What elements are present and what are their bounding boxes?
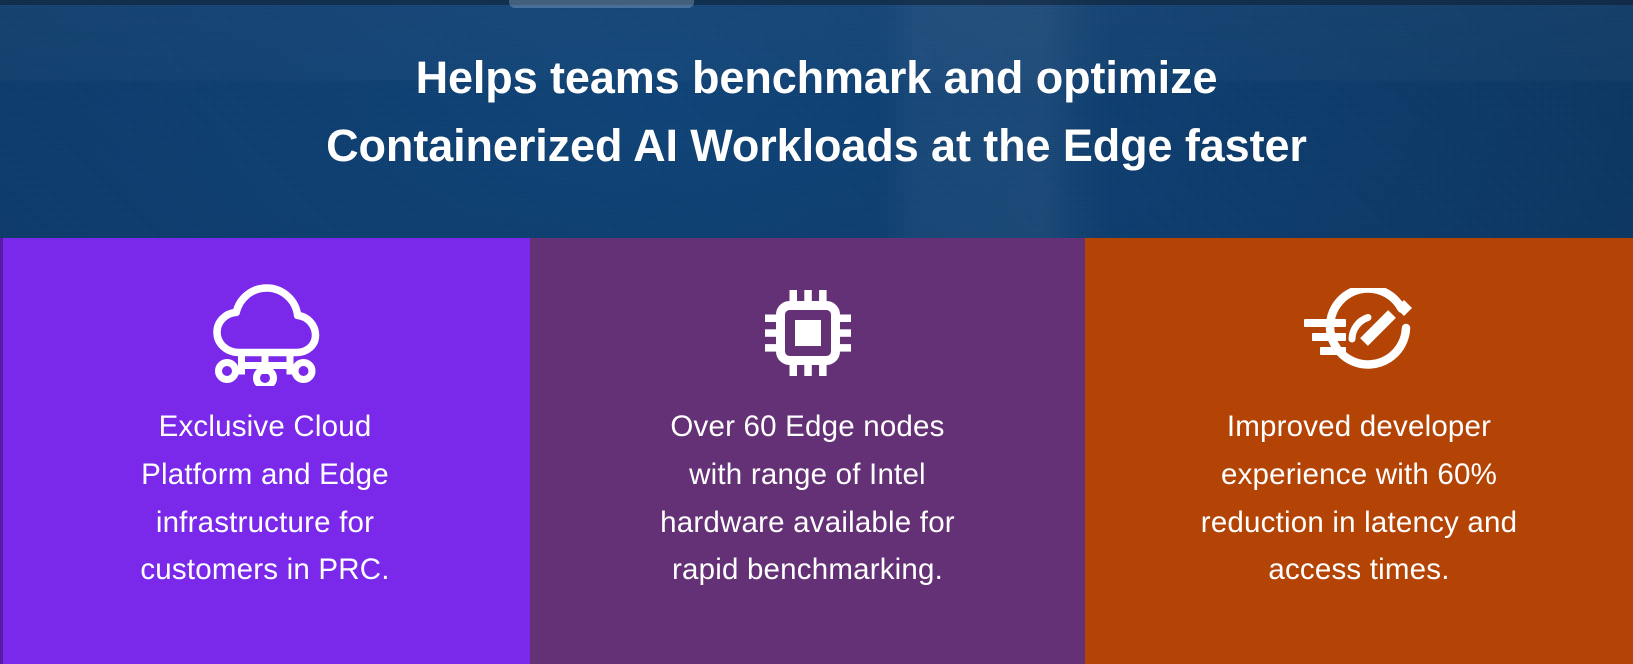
slide: Helps teams benchmark and optimize Conta…	[0, 0, 1633, 664]
cloud-network-icon	[205, 281, 325, 387]
panel-text-developer-experience: Improved developer experience with 60% r…	[1144, 403, 1574, 594]
benefit-panels: Exclusive Cloud Platform and Edge infras…	[0, 238, 1633, 664]
panel-cloud-platform[interactable]: Exclusive Cloud Platform and Edge infras…	[0, 238, 530, 664]
left-edge-rail	[0, 238, 3, 664]
panel-developer-experience[interactable]: Improved developer experience with 60% r…	[1085, 238, 1633, 664]
top-cropped-chip	[509, 0, 694, 8]
cpu-chip-icon	[748, 281, 868, 387]
header-top-edge-strip	[0, 0, 1633, 5]
speedometer-icon	[1299, 281, 1419, 387]
panel-edge-nodes[interactable]: Over 60 Edge nodes with range of Intel h…	[530, 238, 1085, 664]
panel-text-cloud-platform: Exclusive Cloud Platform and Edge infras…	[75, 403, 455, 594]
page-title: Helps teams benchmark and optimize Conta…	[0, 44, 1633, 181]
panel-text-edge-nodes: Over 60 Edge nodes with range of Intel h…	[593, 403, 1023, 594]
